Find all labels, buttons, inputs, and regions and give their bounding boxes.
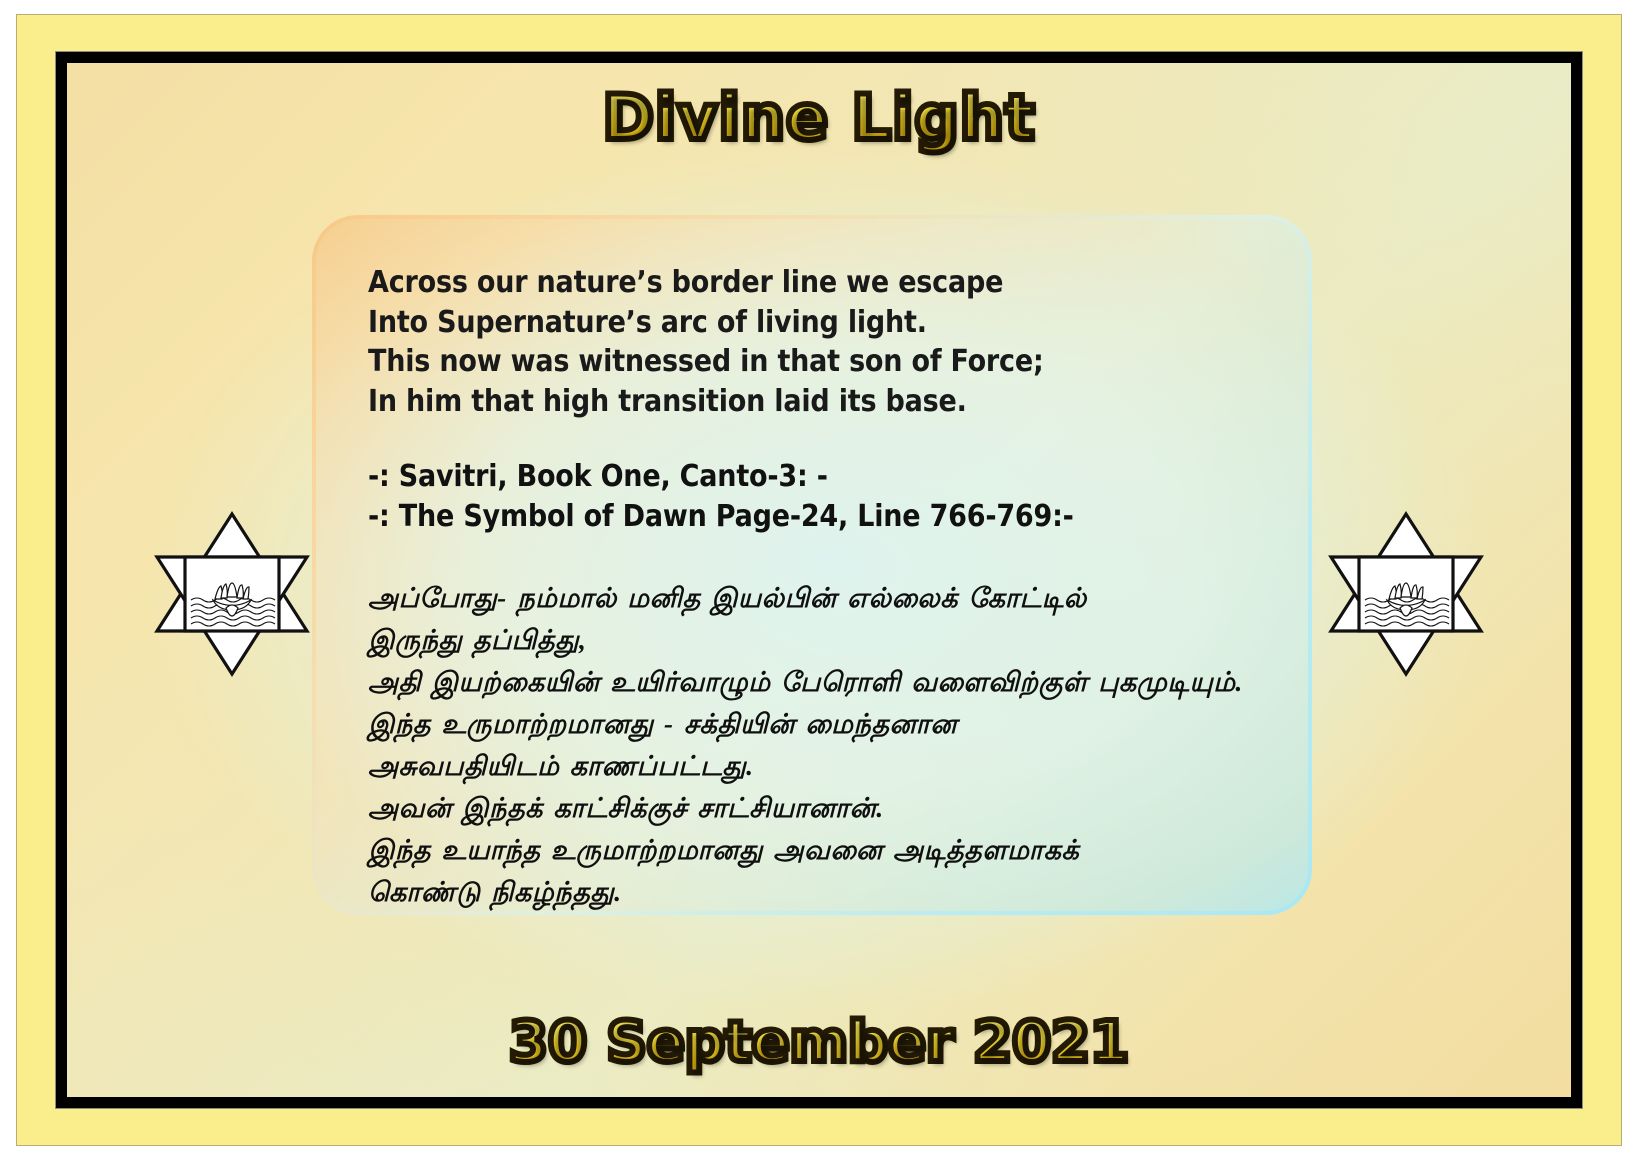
ashram-symbol-right xyxy=(1315,508,1497,680)
tamil-line: அவன் இந்தக் காட்சிக்குச் சாட்சியானான். xyxy=(368,787,1266,829)
verse-line: This now was witnessed in that son of Fo… xyxy=(368,342,1266,382)
poster-canvas: Divine Light xyxy=(67,63,1571,1097)
citation-line: -: Savitri, Book One, Canto-3: - xyxy=(368,457,1266,497)
tamil-line: இந்த உயாந்த உருமாற்றமானது அவனை அடித்தளமா… xyxy=(368,829,1266,871)
verse-line: In him that high transition laid its bas… xyxy=(368,382,1266,422)
verse-line: Across our nature’s border line we escap… xyxy=(368,263,1266,303)
tamil-line: கொண்டு நிகழ்ந்தது. xyxy=(368,871,1266,913)
poster-date-text: 30 September 2021 xyxy=(509,1010,1129,1075)
tamil-line: இருந்து தப்பித்து, xyxy=(368,619,1266,661)
page-title: Divine Light xyxy=(67,85,1571,150)
tamil-line: அதி இயற்கையின் உயிர்வாழும் பேரொளி வளைவிற… xyxy=(368,661,1266,703)
english-verse: Across our nature’s border line we escap… xyxy=(368,263,1266,421)
tamil-line: அப்போது- நம்மால் மனித இயல்பின் எல்லைக் க… xyxy=(368,577,1266,619)
page-title-text: Divine Light xyxy=(602,85,1035,150)
content-panel-inner: Across our nature’s border line we escap… xyxy=(316,219,1308,911)
content-panel: Across our nature’s border line we escap… xyxy=(312,215,1312,915)
outer-yellow-frame: Divine Light xyxy=(16,14,1622,1146)
tamil-line: அசுவபதியிடம் காணப்பட்டது. xyxy=(368,745,1266,787)
poster-date: 30 September 2021 xyxy=(67,1010,1571,1075)
black-frame: Divine Light xyxy=(55,51,1583,1109)
ashram-symbol-left xyxy=(141,508,323,680)
tamil-line: இந்த உருமாற்றமானது - சக்தியின் மைந்தனான xyxy=(368,703,1266,745)
citation-line: -: The Symbol of Dawn Page-24, Line 766-… xyxy=(368,497,1266,537)
verse-line: Into Supernature’s arc of living light. xyxy=(368,303,1266,343)
tamil-verse: அப்போது- நம்மால் மனித இயல்பின் எல்லைக் க… xyxy=(368,577,1266,913)
citation-block: -: Savitri, Book One, Canto-3: - -: The … xyxy=(368,457,1266,537)
poster-root: Divine Light xyxy=(0,0,1640,1160)
